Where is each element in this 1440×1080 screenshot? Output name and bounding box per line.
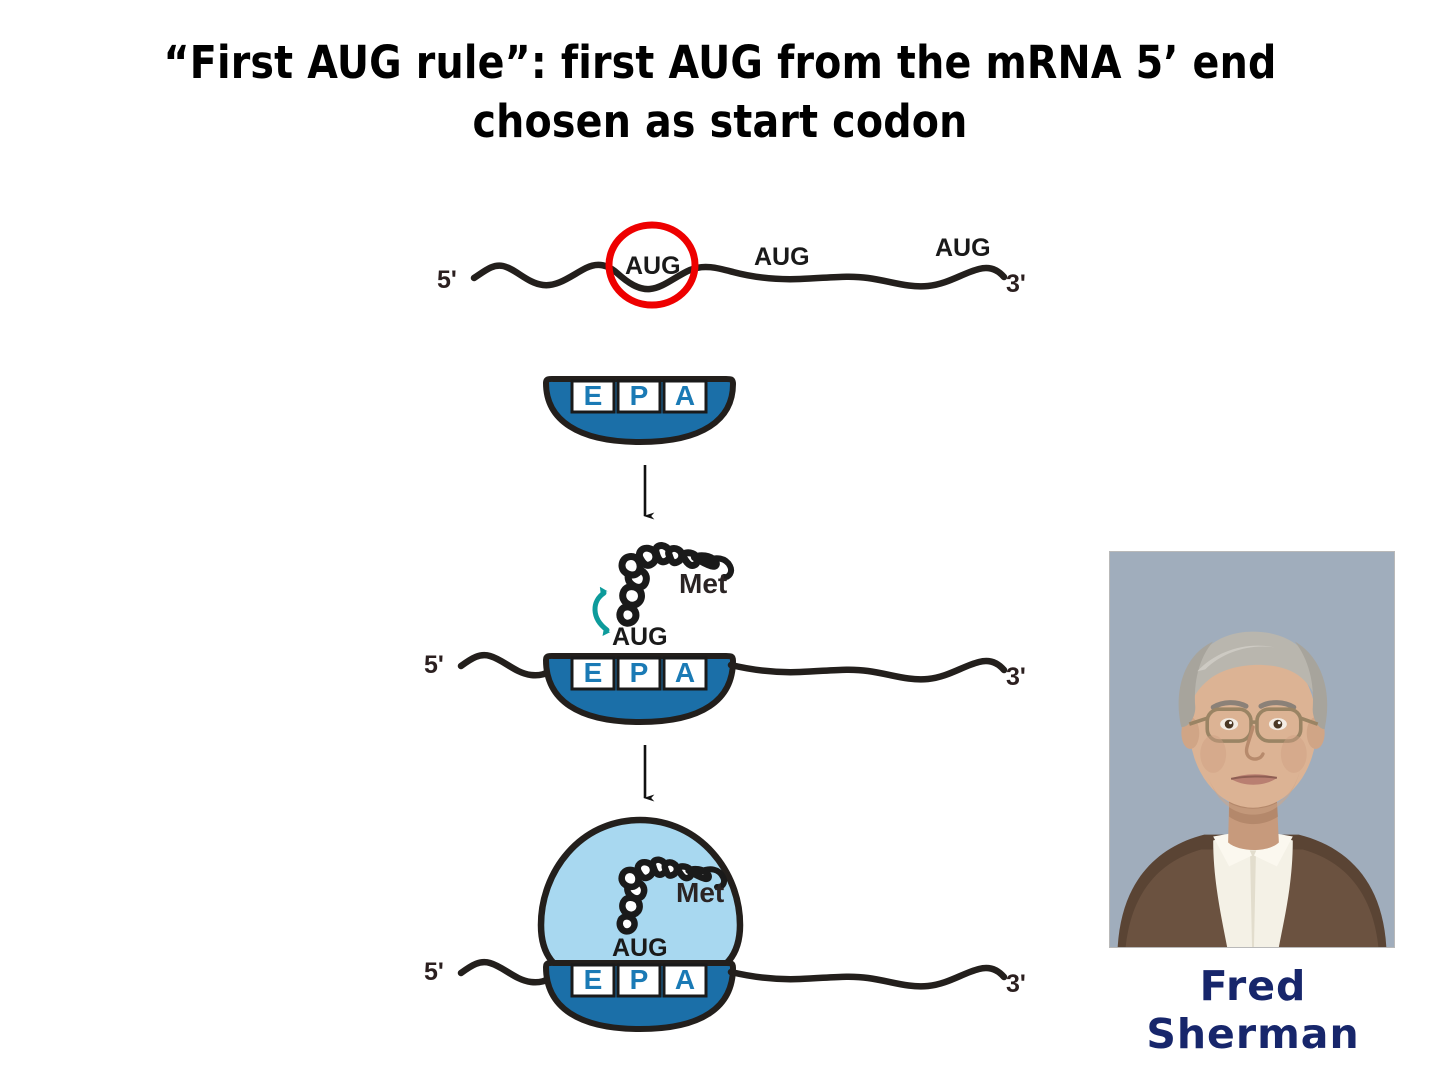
epa-sites-initiation: E P A xyxy=(572,657,706,689)
site-label-e-mid: E xyxy=(584,657,603,688)
site-label-a-mid: A xyxy=(675,657,695,688)
aug-codon-2-label: AUG xyxy=(754,243,810,271)
mrna-strand-mid-left xyxy=(461,655,552,675)
portrait-block: Fred Sherman xyxy=(1109,551,1397,1058)
site-label-e: E xyxy=(584,380,603,411)
portrait-caption: Fred Sherman xyxy=(1109,962,1397,1058)
five-prime-label-top: 5' xyxy=(437,266,457,294)
three-prime-label-bottom: 3' xyxy=(1006,970,1026,998)
aug-codon-1-label: AUG xyxy=(625,252,681,280)
panel-initiation-complex: Met AUG 5' E P A 3' xyxy=(424,545,1026,722)
site-label-p-bottom: P xyxy=(630,964,649,995)
panel-complete-ribosome: Met AUG 5' E P A 3' xyxy=(424,820,1026,1029)
site-label-p: P xyxy=(630,380,649,411)
panel-small-subunit: E P A xyxy=(546,379,733,442)
epa-sites-free-subunit: E P A xyxy=(572,380,706,412)
site-label-a-bottom: A xyxy=(675,964,695,995)
trna-binding-arrow-teal-mid xyxy=(595,593,607,630)
five-prime-label-mid: 5' xyxy=(424,651,444,679)
portrait-photo xyxy=(1109,551,1395,948)
mrna-strand-top xyxy=(474,265,1004,289)
met-label-bottom: Met xyxy=(676,877,724,908)
site-label-a: A xyxy=(675,380,695,411)
site-label-p-mid: P xyxy=(630,657,649,688)
mrna-strand-bottom-left xyxy=(461,962,552,982)
epa-sites-complete: E P A xyxy=(572,964,706,996)
portrait-illustration xyxy=(1110,552,1394,947)
site-label-e-bottom: E xyxy=(584,964,603,995)
panel-mrna-scan: 5' 3' AUG AUG AUG xyxy=(437,225,1026,305)
five-prime-label-bottom: 5' xyxy=(424,958,444,986)
met-label-mid: Met xyxy=(679,568,727,599)
mrna-strand-bottom-right xyxy=(731,968,1004,986)
three-prime-label-top: 3' xyxy=(1006,270,1026,298)
aug-codon-label-mid: AUG xyxy=(612,623,668,651)
three-prime-label-mid: 3' xyxy=(1006,663,1026,691)
aug-codon-3-label: AUG xyxy=(935,234,991,262)
mrna-strand-mid-right xyxy=(731,661,1004,679)
aug-codon-label-bottom: AUG xyxy=(612,934,668,962)
